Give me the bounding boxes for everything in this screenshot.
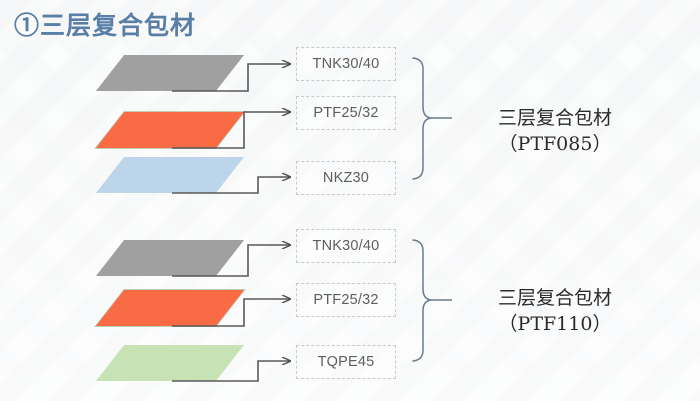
layer-label-g2-l1: TNK30/40 — [296, 229, 396, 263]
group-caption-ptf085: 三层复合包材 （PTF085） — [460, 105, 650, 157]
diagram-content: ①三层复合包材 TNK30/40 PTF25/32 NKZ30 三层复合包材 （… — [0, 0, 700, 401]
layer-label-g2-l3: TQPE45 — [296, 345, 396, 379]
layer-plate-g2-l3 — [96, 345, 244, 381]
layer-plate-g2-l1 — [96, 240, 244, 276]
page-title: ①三层复合包材 — [14, 6, 196, 42]
group-caption-line2: （PTF085） — [460, 131, 650, 157]
group-caption-line1: 三层复合包材 — [498, 287, 612, 309]
layer-plate-g1-l1 — [96, 55, 244, 91]
group-brace-ptf085 — [413, 58, 431, 179]
layer-plate-g1-l3 — [96, 157, 244, 193]
layer-label-g1-l2: PTF25/32 — [296, 96, 396, 130]
group-caption-ptf110: 三层复合包材 （PTF110） — [460, 285, 650, 337]
diagram-canvas: ①三层复合包材 TNK30/40 PTF25/32 NKZ30 三层复合包材 （… — [0, 0, 700, 401]
layer-label-g2-l2: PTF25/32 — [296, 283, 396, 317]
layer-plate-g2-l2 — [96, 290, 244, 326]
group-caption-line1: 三层复合包材 — [498, 107, 612, 129]
layer-label-g1-l3: NKZ30 — [296, 161, 396, 195]
group-caption-line2: （PTF110） — [460, 311, 650, 337]
layer-plate-g1-l2 — [96, 112, 244, 148]
layer-label-g1-l1: TNK30/40 — [296, 47, 396, 81]
group-brace-ptf110 — [413, 240, 431, 361]
